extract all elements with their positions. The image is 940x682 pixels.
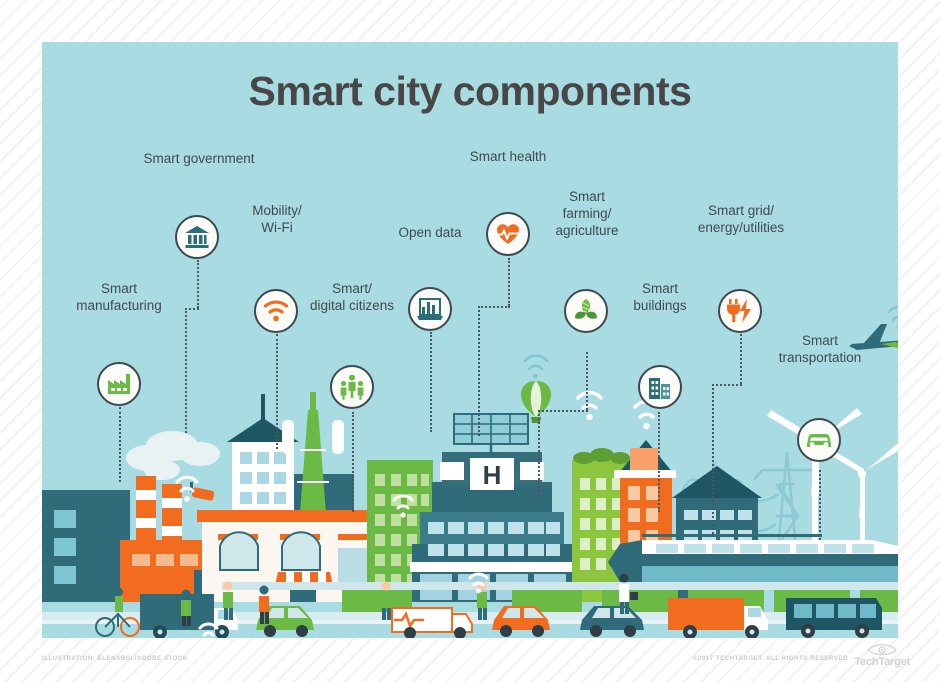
badge-smart-health[interactable] [486,212,530,256]
techtarget-logo: TechTarget [854,643,910,668]
badge-smart-government[interactable] [175,215,219,259]
wifi-icon-plane [889,307,898,320]
bus [786,598,882,638]
wifi-icon [263,300,289,322]
badge-open-data[interactable] [408,287,452,331]
eye-icon [867,643,897,656]
smoke-plume [126,431,220,480]
connector-smart-health-a [508,258,510,306]
label-smart-transportation: Smart transportation [754,332,886,366]
label-smart-digital-citizens: Smart/ digital citizens [287,280,417,314]
people-icon [339,374,365,400]
hospital-building: H [410,414,574,602]
label-open-data: Open data [370,224,490,241]
heartbeat-icon [495,222,521,246]
high-speed-train [608,534,898,582]
badge-smart-manufacturing[interactable] [97,362,141,406]
connector-smart-health-b [478,306,510,308]
pedestrian-3 [223,582,233,621]
connector-smart-farming-b [538,410,588,412]
factory-building [120,540,192,602]
connector-smart-buildings [658,412,660,512]
badge-smart-buildings[interactable] [638,365,682,409]
corn-leaf-icon [573,298,599,324]
illustration-credit: ILLUSTRATION: ELENABSL/ADOBE STOCK [42,656,188,662]
factory-icon [106,372,132,396]
pedestrian-2 [259,586,269,625]
label-smart-manufacturing: Smart manufacturing [54,280,184,314]
badge-smart-digital-citizens[interactable] [330,365,374,409]
pedestrian-5 [477,582,487,621]
pedestrian-4 [381,582,391,621]
badge-smart-grid-energy-utilities[interactable] [718,289,762,333]
badge-smart-farming-agriculture[interactable] [564,289,608,333]
label-mobility-wifi: Mobility/ Wi-Fi [222,202,332,236]
buildings-icon [647,374,673,400]
label-smart-health: Smart health [438,148,578,165]
rooftop-garden [573,448,630,464]
wifi-signal-tower [578,393,601,408]
label-smart-buildings: Smart buildings [608,280,712,314]
connector-smart-government-b [185,308,199,310]
connector-smart-government-a [197,260,199,308]
label-smart-grid-energy-utilities: Smart grid/ energy/utilities [670,202,812,236]
badge-smart-transportation[interactable] [797,418,841,462]
techtarget-wordmark: TechTarget [854,656,910,668]
pedestrian-1 [181,590,191,627]
badge-mobility-wifi[interactable] [254,289,298,333]
connector-smart-transportation [819,470,821,540]
connector-smart-government-c [185,308,187,433]
label-smart-farming-agriculture: Smart farming/ agriculture [532,188,642,239]
connector-open-data [430,332,432,432]
svg-text:H: H [483,460,502,490]
label-smart-government: Smart government [104,150,294,167]
connector-smart-farming-a [586,352,588,410]
connector-smart-grid-c [712,384,714,534]
connector-smart-farming-c [538,410,540,500]
car-icon [805,430,833,450]
elevated-track [222,582,898,590]
connector-digital-citizens [352,412,354,512]
connector-smart-health-c [478,306,480,436]
laptop-chart-icon [416,297,444,321]
infographic-panel: Smart city components [42,42,898,638]
hot-air-balloon [507,347,567,427]
connector-mobility-wifi [276,334,278,449]
wifi-icon-balloon [525,356,547,369]
connector-smart-grid-b [712,384,742,386]
copyright-notice: ©2017 TECHTARGET. ALL RIGHTS RESERVED [693,656,848,662]
connector-smart-manufacturing [119,407,121,482]
connector-smart-grid-a [740,334,742,384]
plug-bolt-icon [726,298,754,324]
bank-icon [184,225,210,249]
